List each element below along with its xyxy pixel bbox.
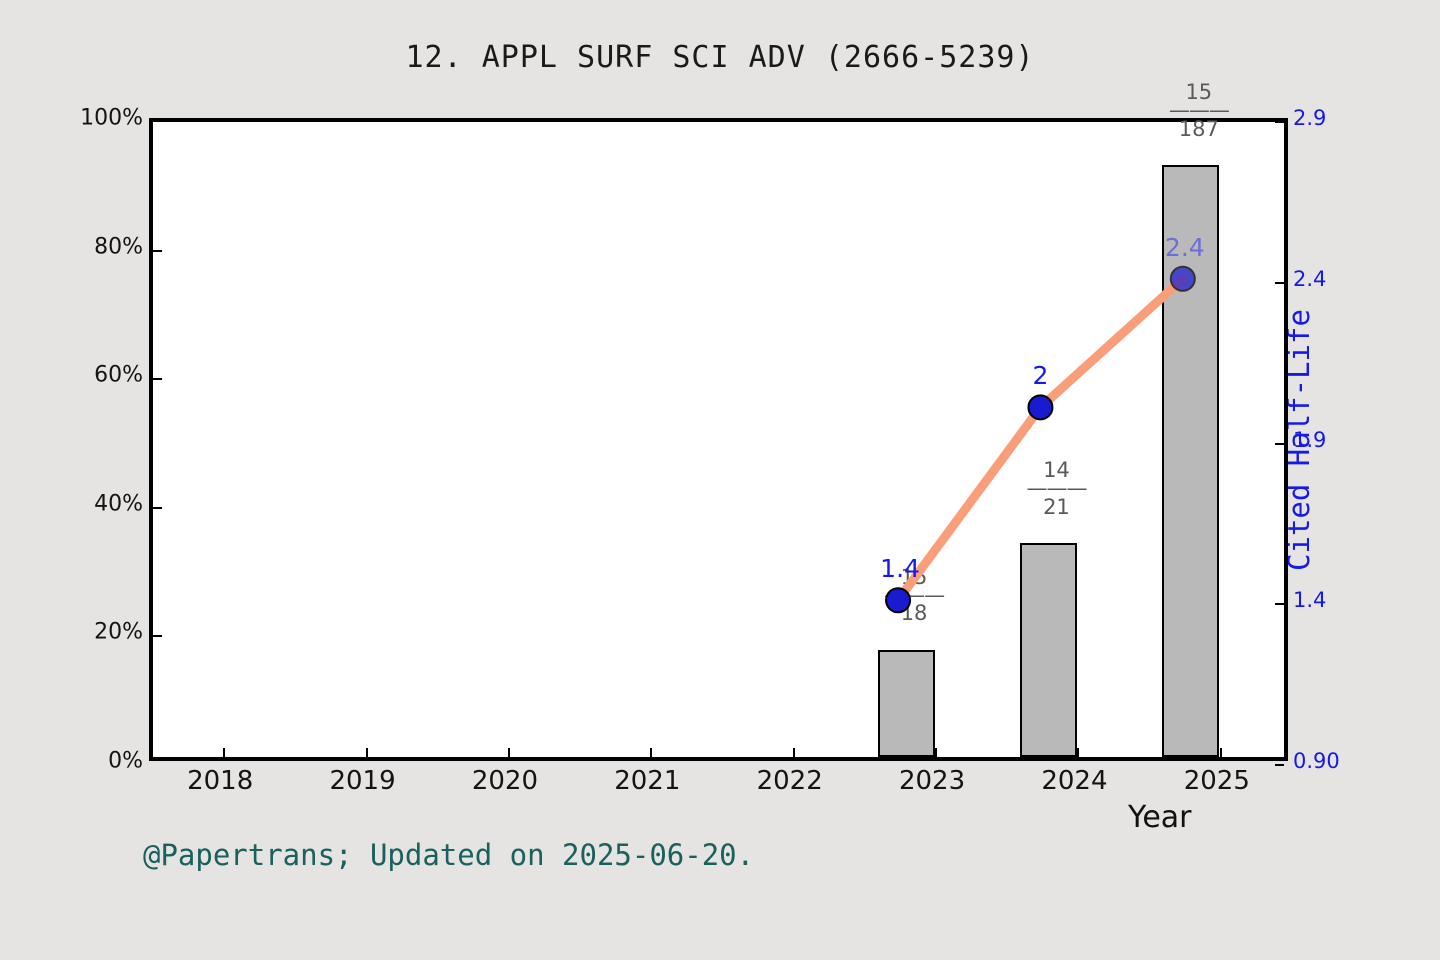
y-tick-mark-left: [153, 507, 162, 509]
y-tick-label-right: 0.90: [1293, 749, 1413, 773]
x-tick-label: 2025: [1137, 766, 1297, 796]
bar: [1020, 543, 1077, 757]
x-tick-label: 2024: [994, 766, 1154, 796]
y-tick-label-left: 0%: [23, 749, 143, 774]
bar: [878, 650, 935, 757]
plot-inner: [153, 122, 1284, 757]
x-tick-label: 2020: [425, 766, 585, 796]
y-tick-mark-left: [153, 635, 162, 637]
x-tick-mark: [223, 748, 225, 757]
x-tick-mark: [366, 748, 368, 757]
x-tick-label: 2022: [710, 766, 870, 796]
fraction-numerator: 15: [1139, 81, 1259, 103]
y-tick-label-left: 40%: [23, 491, 143, 516]
x-tick-mark: [793, 748, 795, 757]
y-tick-label-left: 60%: [23, 363, 143, 388]
x-tick-label: 2023: [852, 766, 1012, 796]
y-tick-label-left: 20%: [23, 620, 143, 645]
x-tick-mark: [650, 748, 652, 757]
y-tick-label-right: 1.4: [1293, 588, 1413, 612]
plot-area: [149, 118, 1288, 761]
x-tick-label: 2021: [567, 766, 727, 796]
y-tick-label-right: 2.9: [1293, 106, 1413, 130]
y-tick-mark-right: [1275, 443, 1284, 445]
y-tick-mark-right: [1275, 282, 1284, 284]
x-tick-mark: [1077, 748, 1079, 757]
chart-canvas: 12. APPL SURF SCI ADV (2666-5239) 0%20%4…: [0, 0, 1440, 960]
bar: [1162, 165, 1219, 757]
footer-note: @Papertrans; Updated on 2025-06-20.: [143, 838, 754, 872]
y-tick-label-right: 2.4: [1293, 267, 1413, 291]
x-tick-label: 2018: [140, 766, 300, 796]
x-tick-mark: [508, 748, 510, 757]
x-tick-mark: [935, 748, 937, 757]
y-tick-mark-left: [153, 250, 162, 252]
y-tick-mark-right: [1275, 603, 1284, 605]
x-axis-title: Year: [1128, 800, 1192, 835]
y-tick-mark-left: [153, 378, 162, 380]
x-tick-label: 2019: [283, 766, 443, 796]
fraction-bar: ———: [1139, 103, 1259, 118]
x-tick-mark: [1220, 748, 1222, 757]
y-tick-mark-right: [1275, 121, 1284, 123]
y-tick-label-left: 80%: [23, 234, 143, 259]
y-tick-label-left: 100%: [23, 106, 143, 131]
chart-title: 12. APPL SURF SCI ADV (2666-5239): [0, 40, 1440, 75]
